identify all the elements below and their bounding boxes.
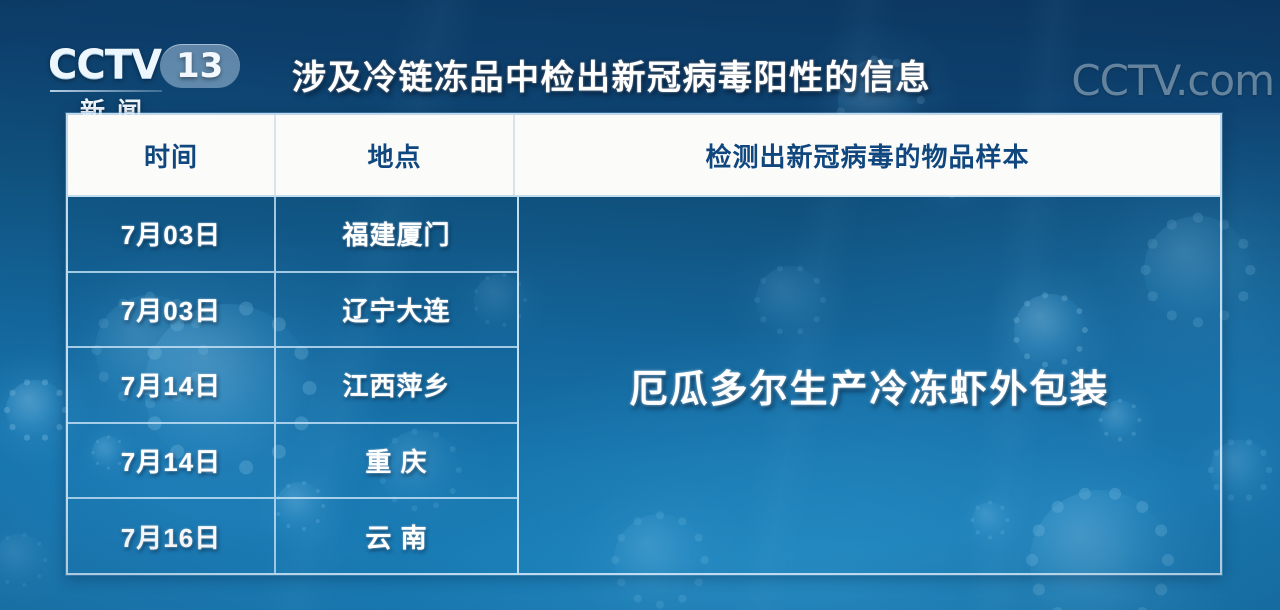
- virus-particle-icon: [6, 380, 66, 440]
- table-row: 7月14日 江西萍乡: [68, 346, 517, 422]
- table-row: 7月16日 云 南: [68, 497, 517, 573]
- table-row: 7月14日 重 庆: [68, 422, 517, 498]
- cell-date: 7月03日: [68, 273, 274, 347]
- cell-date: 7月14日: [68, 348, 274, 422]
- column-header-location: 地点: [274, 115, 515, 195]
- column-header-sample: 检测出新冠病毒的物品样本: [515, 115, 1220, 195]
- cell-date: 7月16日: [68, 499, 274, 573]
- table-left-columns: 7月03日 福建厦门 7月03日 辽宁大连 7月14日 江西萍乡 7月14日 重…: [68, 195, 517, 573]
- cctv-com-watermark: CCTV.com: [1071, 56, 1274, 105]
- virus-particle-icon: [0, 534, 46, 586]
- page-title: 涉及冷链冻品中检出新冠病毒阳性的信息: [292, 50, 931, 99]
- channel-number: 13: [176, 46, 223, 86]
- table-body: 7月03日 福建厦门 7月03日 辽宁大连 7月14日 江西萍乡 7月14日 重…: [68, 195, 1220, 573]
- table-row: 7月03日 福建厦门: [68, 195, 517, 271]
- table-header-row: 时间 地点 检测出新冠病毒的物品样本: [68, 115, 1220, 195]
- cell-date: 7月03日: [68, 197, 274, 271]
- cell-place: 重 庆: [274, 424, 517, 498]
- cell-place: 福建厦门: [274, 197, 517, 271]
- broadcast-graphic: CCTV 13 新闻 CCTV.com 涉及冷链冻品中检出新冠病毒阳性的信息 时…: [0, 0, 1280, 610]
- merged-sample-cell: 厄瓜多尔生产冷冻虾外包装: [517, 195, 1220, 573]
- cell-place: 辽宁大连: [274, 273, 517, 347]
- cctv13-logo: CCTV 13 新闻: [48, 44, 244, 110]
- cell-place: 江西萍乡: [274, 348, 517, 422]
- cell-place: 云 南: [274, 499, 517, 573]
- cell-date: 7月14日: [68, 424, 274, 498]
- column-header-time: 时间: [68, 115, 274, 195]
- table-row: 7月03日 辽宁大连: [68, 271, 517, 347]
- cctv-wordmark: CCTV: [48, 42, 161, 88]
- info-table: 时间 地点 检测出新冠病毒的物品样本 7月03日 福建厦门 7月03日 辽宁大连…: [66, 113, 1222, 575]
- sample-description: 厄瓜多尔生产冷冻虾外包装: [629, 358, 1109, 413]
